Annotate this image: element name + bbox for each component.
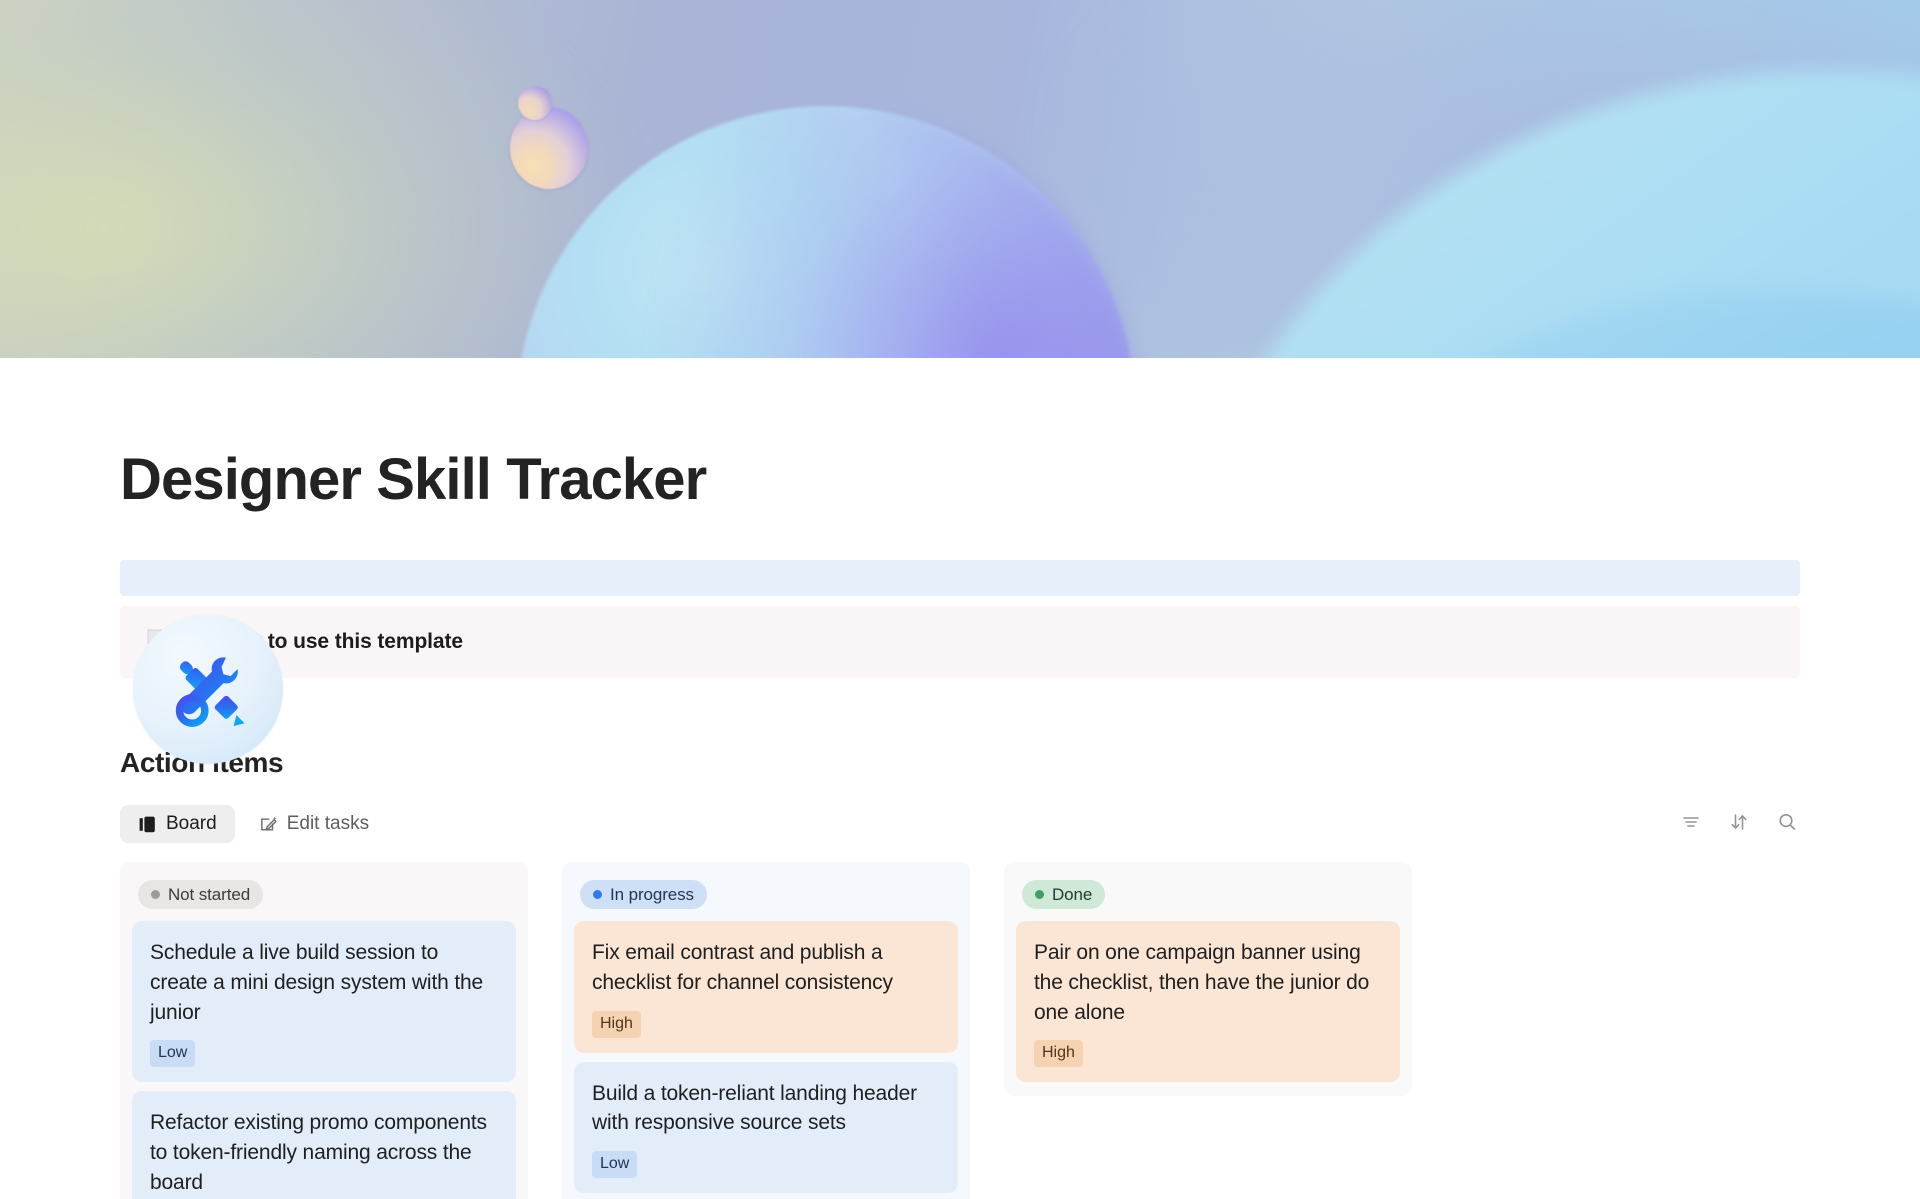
task-title: Refactor existing promo components to to… [150, 1108, 498, 1197]
column-header: In progress [574, 874, 958, 921]
view-toolbar: Board Edit tasks [120, 804, 1800, 844]
hero-banner [0, 0, 1920, 358]
task-title: Fix email contrast and publish a checkli… [592, 938, 940, 998]
task-title: Schedule a live build session to create … [150, 938, 498, 1027]
kanban-board: Not started Schedule a live build sessio… [120, 862, 1800, 1199]
view-tabs: Board Edit tasks [120, 805, 387, 843]
status-badge[interactable]: Not started [138, 880, 263, 909]
section-title: Action items [120, 678, 1800, 780]
column-header: Done [1016, 874, 1400, 921]
board-column-in-progress: In progress Fix email contrast and publi… [562, 862, 970, 1199]
column-header: Not started [132, 874, 516, 921]
status-badge[interactable]: Done [1022, 880, 1105, 909]
priority-tag[interactable]: Low [150, 1040, 195, 1067]
priority-tag[interactable]: High [592, 1011, 641, 1038]
task-title: Build a token-reliant landing header wit… [592, 1079, 940, 1139]
view-actions [1680, 811, 1800, 838]
task-title: Pair on one campaign banner using the ch… [1034, 938, 1382, 1027]
board-column-done: Done Pair on one campaign banner using t… [1004, 862, 1412, 1096]
status-dot-icon [1035, 890, 1044, 899]
status-dot-icon [151, 890, 160, 899]
how-to-use-toggle[interactable]: How to use this template [120, 606, 1800, 678]
tab-edit-tasks[interactable]: Edit tasks [241, 805, 387, 843]
priority-tag[interactable]: Low [592, 1151, 637, 1178]
status-badge[interactable]: In progress [580, 880, 707, 909]
priority-tag[interactable]: High [1034, 1040, 1083, 1067]
wrench-and-pen-icon[interactable] [133, 614, 283, 764]
status-label: In progress [610, 885, 694, 905]
task-card[interactable]: Build a token-reliant landing header wit… [574, 1062, 958, 1194]
search-icon[interactable] [1776, 811, 1798, 838]
status-label: Done [1052, 885, 1092, 905]
status-label: Not started [168, 885, 250, 905]
task-card[interactable]: Fix email contrast and publish a checkli… [574, 921, 958, 1053]
filter-icon[interactable] [1680, 811, 1702, 838]
tab-board[interactable]: Board [120, 805, 235, 843]
board-column-not-started: Not started Schedule a live build sessio… [120, 862, 528, 1199]
sort-icon[interactable] [1728, 811, 1750, 838]
gradient-bubble-small [518, 86, 552, 120]
edit-pencil-icon [259, 815, 278, 834]
callout-banner [120, 560, 1800, 596]
task-card[interactable]: Pair on one campaign banner using the ch… [1016, 921, 1400, 1082]
board-cards-icon [138, 815, 157, 834]
task-card[interactable]: Refactor existing promo components to to… [132, 1091, 516, 1199]
gradient-bubble [510, 107, 588, 189]
status-dot-icon [593, 890, 602, 899]
tab-board-label: Board [166, 813, 217, 835]
task-card[interactable]: Schedule a live build session to create … [132, 921, 516, 1082]
page-body: Designer Skill Tracker How to [0, 358, 1920, 1199]
tab-edit-tasks-label: Edit tasks [287, 813, 369, 835]
page-title: Designer Skill Tracker [120, 358, 1800, 514]
